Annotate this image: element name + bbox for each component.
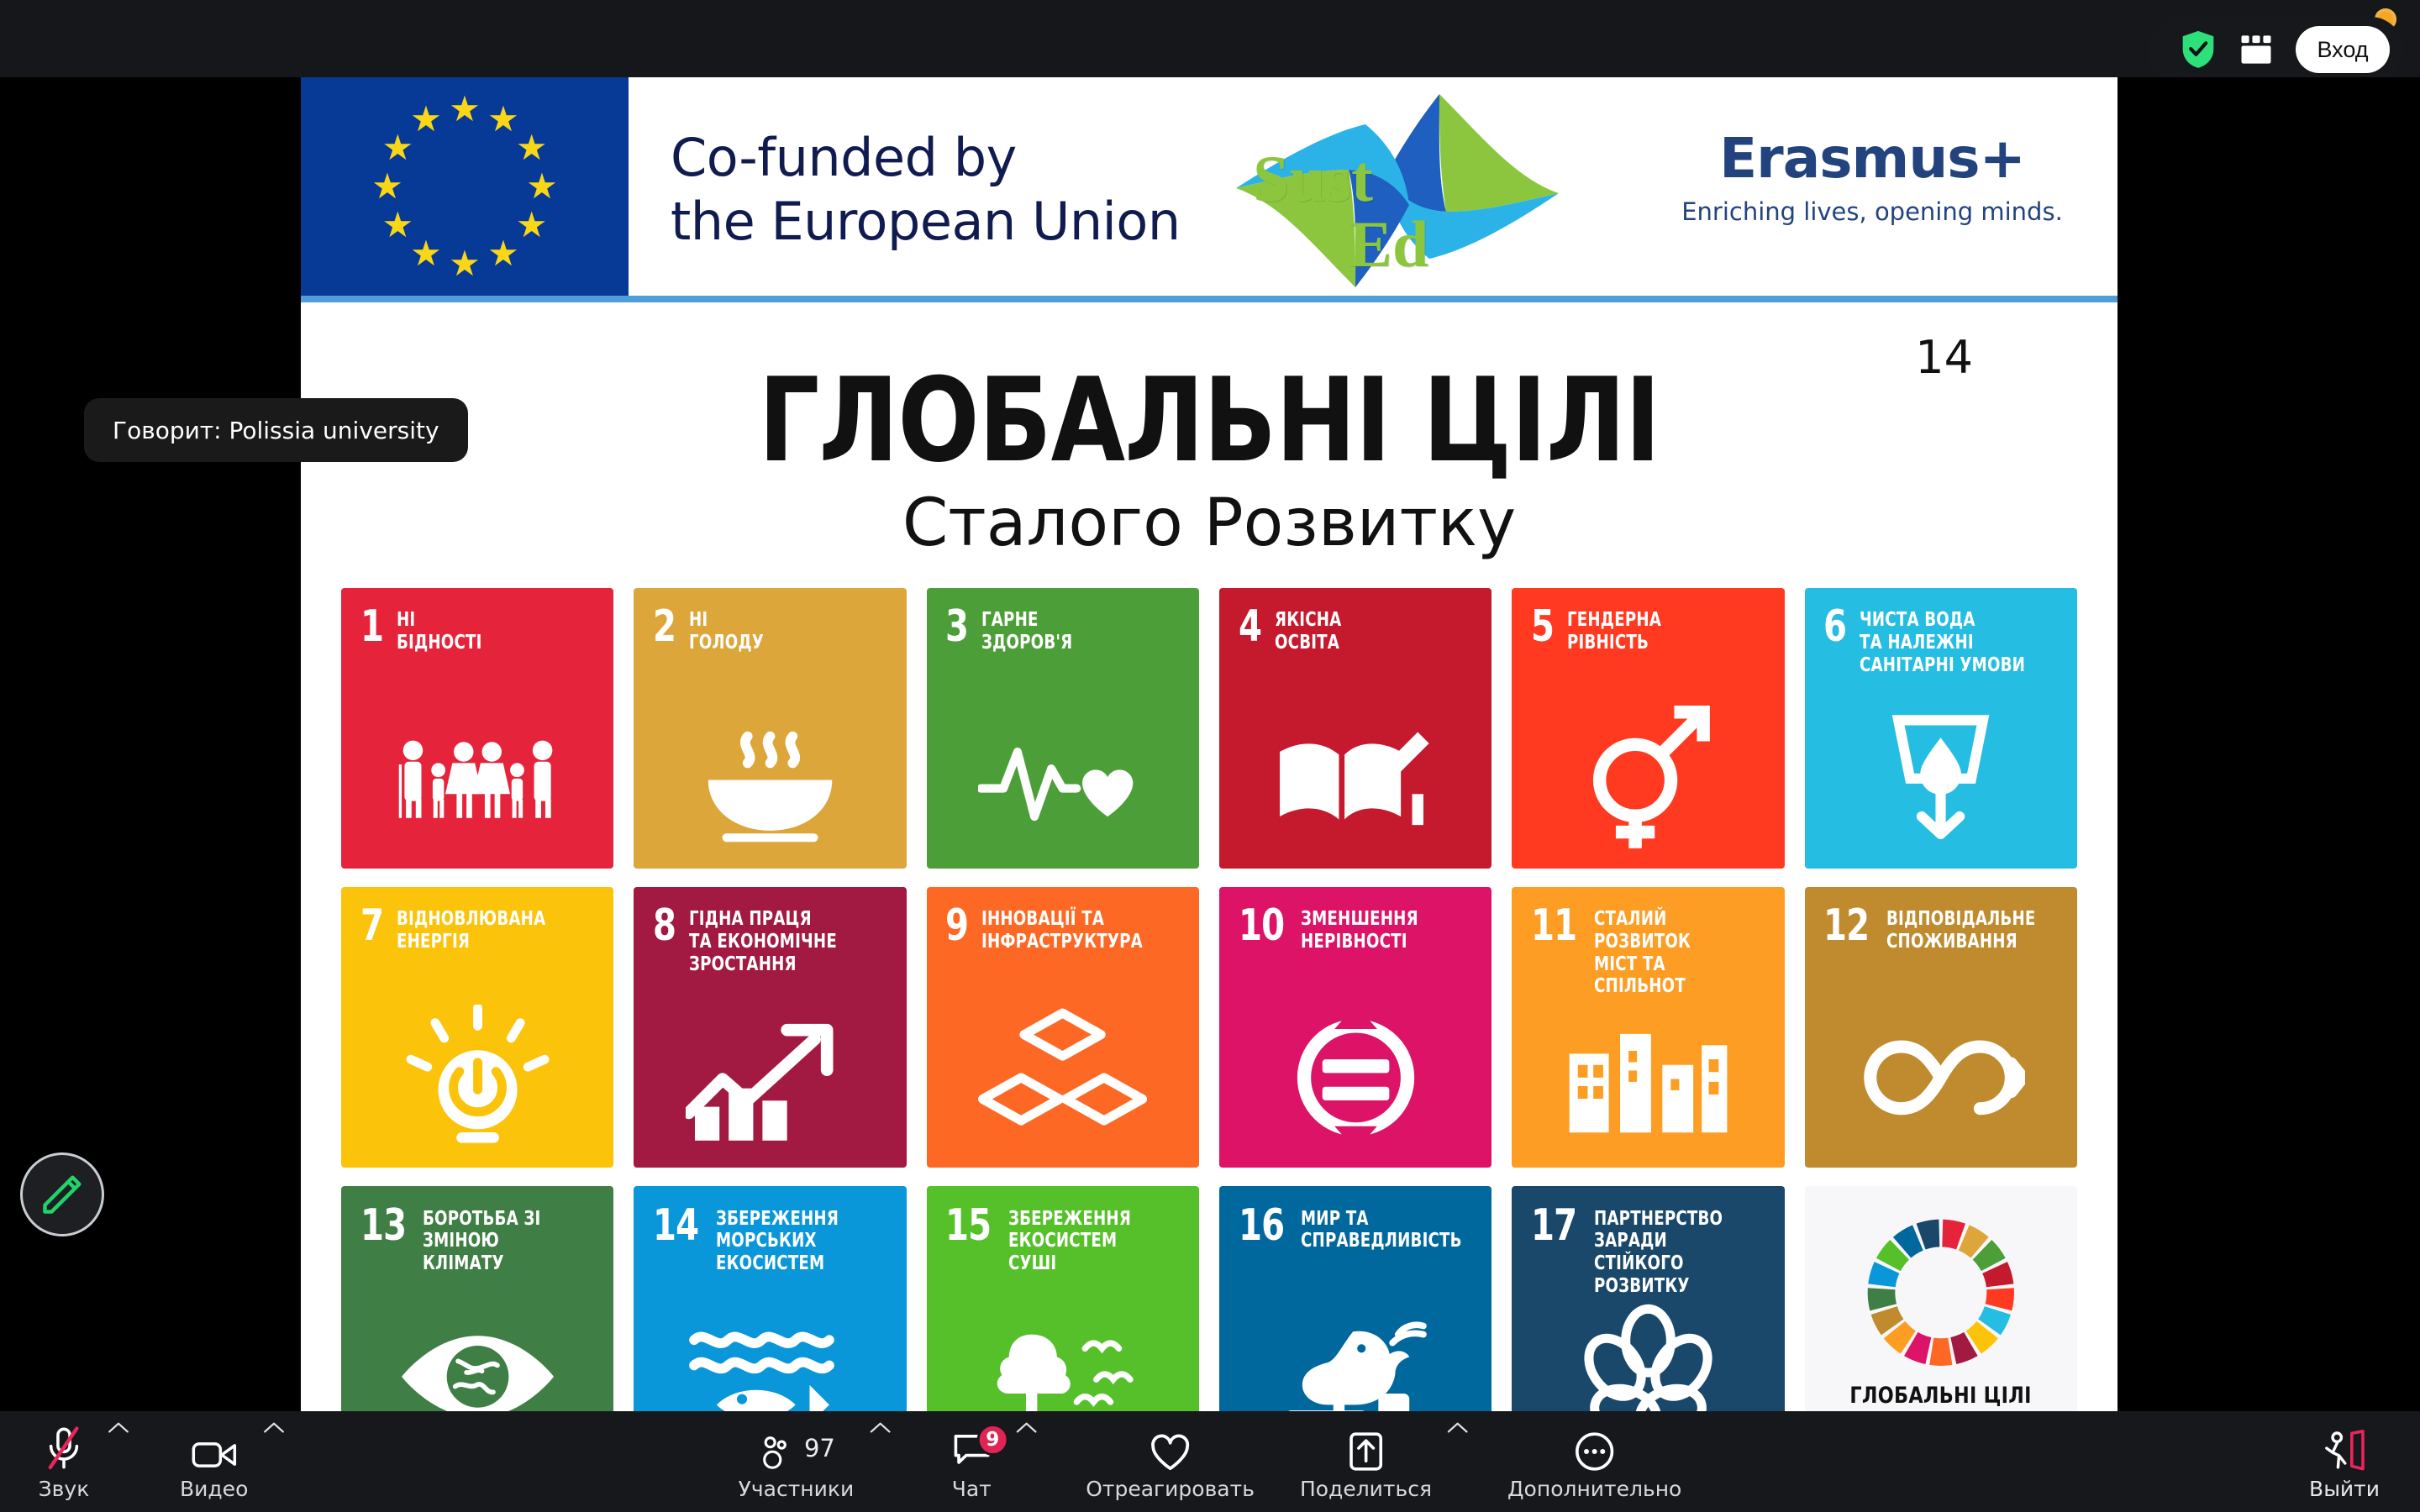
sdg-tile-header: 5ГЕНДЕРНА РІВНІСТЬ [1531, 607, 1770, 654]
infinity-icon [1805, 1005, 2077, 1151]
sdg-tile-8: 8ГІДНА ПРАЦЯ ТА ЕКОНОМІЧНЕ ЗРОСТАННЯ [634, 887, 906, 1168]
family-icon [341, 706, 613, 852]
sdg-tile-number: 5 [1531, 607, 1554, 648]
participants-label: Участники [739, 1477, 855, 1501]
sdg-tile-header: 15ЗБЕРЕЖЕННЯ ЕКОСИСТЕМ СУШІ [945, 1206, 1185, 1275]
toolbar-center-group: 97 Участники 9 [727, 1411, 1694, 1512]
shield-check-icon[interactable] [2180, 29, 2217, 70]
sdg-tile-label: ПАРТНЕРСТВО ЗАРАДИ СТІЙКОГО РОЗВИТКУ [1594, 1208, 1750, 1298]
sdg-tile-header: 9ІННОВАЦІЇ ТА ІНФРАСТРУКТУРА [945, 906, 1185, 953]
sdg-tile-14: 14ЗБЕРЕЖЕННЯ МОРСЬКИХ ЕКОСИСТЕМ [634, 1186, 906, 1411]
sdg-tile-6: 6ЧИСТА ВОДА ТА НАЛЕЖНІ САНІТАРНІ УМОВИ [1805, 588, 2077, 869]
sdg-tile-label: ЯКІСНА ОСВІТА [1275, 609, 1341, 654]
chat-bubble-icon: 9 [951, 1425, 992, 1472]
equal-arrows-icon [1219, 1005, 1491, 1151]
top-bar: Вход [0, 0, 2420, 77]
sdg-tile-label: ЗМЕНШЕННЯ НЕРІВНОСТІ [1301, 908, 1418, 953]
dove-gavel-icon [1219, 1304, 1491, 1411]
login-button[interactable]: Вход [2296, 26, 2390, 73]
sdg-tile-label: МИР ТА СПРАВЕДЛИВІСТЬ [1301, 1208, 1462, 1252]
sdg-tile-number: 6 [1823, 607, 1846, 648]
slide-banner: ★★★★★★★★★★★★ Co-funded by the European U… [301, 77, 2117, 302]
eu-star-icon: ★ [381, 207, 413, 243]
sdg-tile-number: 7 [360, 906, 383, 947]
susted-word-sust: Sust [1253, 146, 1373, 212]
sdg-tile-header: 14ЗБЕРЕЖЕННЯ МОРСЬКИХ ЕКОСИСТЕМ [653, 1206, 892, 1275]
eu-star-icon: ★ [449, 246, 481, 281]
sdg-tile-label: ВІДПОВІДАЛЬНЕ СПОЖИВАННЯ [1886, 908, 2036, 953]
chat-unread-badge: 9 [976, 1424, 1008, 1456]
slide-title: ГЛОБАЛЬНІ ЦІЛІ [373, 353, 2044, 488]
participants-count: 97 [804, 1434, 835, 1462]
sdg-tile-number: 13 [360, 1206, 406, 1247]
eu-star-icon: ★ [449, 92, 481, 127]
susted-logo: Sust Ed [1229, 86, 1565, 296]
sdg-tile-label: ГІДНА ПРАЦЯ ТА ЕКОНОМІЧНЕ ЗРОСТАННЯ [689, 908, 837, 975]
eu-star-icon: ★ [410, 236, 442, 271]
sdg-tile-number: 16 [1239, 1206, 1284, 1247]
sdg-tile-header: 11СТАЛИЙ РОЗВИТОК МІСТ ТА СПІЛЬНОТ [1531, 906, 1770, 998]
sdg-color-wheel-icon [1865, 1216, 2018, 1373]
eu-star-icon: ★ [410, 102, 442, 137]
eu-star-icon: ★ [487, 102, 519, 137]
eu-star-icon: ★ [516, 207, 548, 243]
eu-funding-text: Co-funded by the European Union [671, 126, 1259, 253]
active-speaker-label: Говорит: Polissia university [84, 398, 468, 462]
slide-subtitle: Сталого Розвитку [301, 486, 2117, 561]
sdg-tile-4: 4ЯКІСНА ОСВІТА [1219, 588, 1491, 869]
sdg-tile-header: 3ГАРНЕ ЗДОРОВ'Я [945, 607, 1185, 654]
sdg-goal-grid: 1НІ БІДНОСТІ2НІ ГОЛОДУ3ГАРНЕ ЗДОРОВ'Я4ЯК… [341, 588, 2077, 1411]
sdg-tile-number: 12 [1823, 906, 1869, 947]
eu-star-icon: ★ [381, 130, 413, 165]
sdg-tile-7: 7ВІДНОВЛЮВАНА ЕНЕРГІЯ [341, 887, 613, 1168]
sdg-tile-number: 9 [945, 906, 968, 947]
exit-door-icon [2323, 1425, 2366, 1472]
sdg-tile-number: 17 [1531, 1206, 1576, 1247]
audio-button[interactable]: Звук [24, 1420, 104, 1504]
sdg-tile-number: 14 [653, 1206, 698, 1247]
eu-funding-line1: Co-funded by [671, 126, 1259, 190]
sdg-tile-label: БОРОТЬБА ЗІ ЗМІНОЮ КЛІМАТУ [423, 1208, 579, 1275]
sdg-tile-3: 3ГАРНЕ ЗДОРОВ'Я [927, 588, 1199, 869]
sdg-tile-9: 9ІННОВАЦІЇ ТА ІНФРАСТРУКТУРА [927, 887, 1199, 1168]
more-label: Дополнительно [1507, 1477, 1681, 1501]
presentation-stage: ★★★★★★★★★★★★ Co-funded by the European U… [0, 77, 2420, 1411]
share-up-arrow-icon [1347, 1425, 1384, 1472]
camera-icon [192, 1425, 237, 1472]
book-pencil-icon [1219, 706, 1491, 852]
chat-label: Чат [952, 1477, 992, 1501]
sdg-wheel-title: ГЛОБАЛЬНІ ЦІЛІ [1850, 1383, 2032, 1409]
sdg-tile-label: ЗБЕРЕЖЕННЯ ЕКОСИСТЕМ СУШІ [1008, 1208, 1131, 1275]
sdg-tile-label: СТАЛИЙ РОЗВИТОК МІСТ ТА СПІЛЬНОТ [1594, 908, 1750, 998]
eu-star-icon: ★ [526, 169, 558, 204]
sdg-tile-label: НІ ГОЛОДУ [689, 609, 764, 654]
react-label: Отреагировать [1086, 1477, 1255, 1501]
bowl-icon [634, 706, 906, 852]
sun-power-icon [341, 1005, 613, 1151]
sdg-tile-17: 17ПАРТНЕРСТВО ЗАРАДИ СТІЙКОГО РОЗВИТКУ [1512, 1186, 1784, 1411]
sdg-tile-2: 2НІ ГОЛОДУ [634, 588, 906, 869]
sdg-tile-header: 8ГІДНА ПРАЦЯ ТА ЕКОНОМІЧНЕ ЗРОСТАННЯ [653, 906, 892, 975]
eu-flag-icon: ★★★★★★★★★★★★ [301, 77, 629, 296]
sdg-tile-number: 4 [1239, 607, 1261, 648]
microphone-muted-icon [43, 1425, 85, 1472]
eu-funding-line2: the European Union [671, 190, 1259, 254]
sdg-tile-label: ГЕНДЕРНА РІВНІСТЬ [1567, 609, 1661, 654]
toolbar-right-group: Выйти [2297, 1411, 2391, 1512]
sdg-tile-number: 10 [1239, 906, 1284, 947]
sdg-tile-header: 4ЯКІСНА ОСВІТА [1239, 607, 1478, 654]
heart-icon [1149, 1425, 1192, 1472]
heartbeat-icon [927, 706, 1199, 852]
sdg-tile-11: 11СТАЛИЙ РОЗВИТОК МІСТ ТА СПІЛЬНОТ [1512, 887, 1784, 1168]
top-right-controls: Вход [2148, 17, 2403, 82]
banner-divider [301, 296, 2117, 302]
erasmus-wordmark: Erasmus+ [1645, 129, 2099, 187]
sdg-tile-number: 15 [945, 1206, 991, 1247]
leave-label: Выйти [2309, 1477, 2380, 1501]
climate-eye-icon [341, 1304, 613, 1411]
cubes-icon [927, 1005, 1199, 1151]
people-icon: 97 [757, 1425, 835, 1472]
erasmus-tagline: Enriching lives, opening minds. [1645, 197, 2099, 226]
erasmus-logo: Erasmus+ Enriching lives, opening minds. [1645, 129, 2099, 226]
growth-chart-icon [634, 1005, 906, 1151]
eu-star-icon: ★ [371, 169, 403, 204]
shared-slide[interactable]: ★★★★★★★★★★★★ Co-funded by the European U… [301, 77, 2117, 1411]
sdg-tile-header: 2НІ ГОЛОДУ [653, 607, 892, 654]
chat-button[interactable]: 9 Чат [931, 1420, 1012, 1504]
sdg-tile-header: 16МИР ТА СПРАВЕДЛИВІСТЬ [1239, 1206, 1478, 1252]
sdg-tile-number: 3 [945, 607, 968, 648]
apps-grid-icon[interactable] [2238, 32, 2274, 67]
sdg-tile-header: 12ВІДПОВІДАЛЬНЕ СПОЖИВАННЯ [1823, 906, 2063, 953]
sdg-tile-label: ВІДНОВЛЮВАНА ЕНЕРГІЯ [397, 908, 545, 953]
share-label: Поделиться [1300, 1477, 1432, 1501]
sdg-tile-15: 15ЗБЕРЕЖЕННЯ ЕКОСИСТЕМ СУШІ [927, 1186, 1199, 1411]
city-icon [1512, 1005, 1784, 1151]
eu-star-icon: ★ [516, 130, 548, 165]
slide-body: 14 ГЛОБАЛЬНІ ЦІЛІ Сталого Розвитку 1НІ Б… [301, 302, 2117, 1411]
sdg-tile-header: 1НІ БІДНОСТІ [360, 607, 600, 654]
sdg-tile-label: ГАРНЕ ЗДОРОВ'Я [981, 609, 1072, 654]
meeting-toolbar: Звук Видео [0, 1411, 2420, 1512]
sdg-tile-label: НІ БІДНОСТІ [397, 609, 482, 654]
sdg-tile-label: ІННОВАЦІЇ ТА ІНФРАСТРУКТУРА [981, 908, 1143, 953]
sdg-tile-label: ЧИСТА ВОДА ТА НАЛЕЖНІ САНІТАРНІ УМОВИ [1860, 609, 2025, 676]
participants-chevron-up-icon[interactable] [865, 1420, 894, 1457]
sdg-tile-header: 7ВІДНОВЛЮВАНА ЕНЕРГІЯ [360, 906, 600, 953]
sdg-tile-12: 12ВІДПОВІДАЛЬНЕ СПОЖИВАННЯ [1805, 887, 2077, 1168]
meeting-app: Вход ★★★★★★★★★★★★ Co-funded by the Europ… [0, 0, 2420, 1512]
sdg-tile-label: ЗБЕРЕЖЕННЯ МОРСЬКИХ ЕКОСИСТЕМ [716, 1208, 839, 1275]
sdg-tile-header: 6ЧИСТА ВОДА ТА НАЛЕЖНІ САНІТАРНІ УМОВИ [1823, 607, 2063, 676]
sdg-tile-header: 13БОРОТЬБА ЗІ ЗМІНОЮ КЛІМАТУ [360, 1206, 600, 1275]
sdg-tile-header: 10ЗМЕНШЕННЯ НЕРІВНОСТІ [1239, 906, 1478, 953]
susted-word-ed: Ed [1349, 212, 1428, 277]
sdg-tile-5: 5ГЕНДЕРНА РІВНІСТЬ [1512, 588, 1784, 869]
water-drop-icon [1805, 706, 2077, 852]
react-button[interactable]: Отреагировать [1074, 1420, 1266, 1504]
eu-star-icon: ★ [487, 236, 519, 271]
ellipsis-icon [1574, 1425, 1616, 1472]
video-label: Видео [180, 1477, 248, 1501]
toolbar-left-group: Звук Видео [24, 1411, 288, 1512]
sdg-tile-13: 13БОРОТЬБА ЗІ ЗМІНОЮ КЛІМАТУ [341, 1186, 613, 1411]
audio-label: Звук [39, 1477, 90, 1501]
sdg-tile-16: 16МИР ТА СПРАВЕДЛИВІСТЬ [1219, 1186, 1491, 1411]
sdg-tile-1: 1НІ БІДНОСТІ [341, 588, 613, 869]
fish-waves-icon [634, 1304, 906, 1411]
share-chevron-up-icon[interactable] [1444, 1420, 1472, 1457]
video-options-chevron-up-icon[interactable] [260, 1420, 288, 1457]
sdg-tile-number: 11 [1531, 906, 1576, 947]
partnership-rings-icon [1512, 1304, 1784, 1411]
chat-chevron-up-icon[interactable] [1012, 1420, 1040, 1457]
sdg-tile-number: 2 [653, 607, 676, 648]
gender-equality-icon [1512, 706, 1784, 852]
sdg-tile-number: 1 [360, 607, 383, 648]
leave-button[interactable]: Выйти [2297, 1420, 2391, 1504]
sdg-tile-10: 10ЗМЕНШЕННЯ НЕРІВНОСТІ [1219, 887, 1491, 1168]
sdg-tile-number: 8 [653, 906, 676, 947]
more-button[interactable]: Дополнительно [1496, 1420, 1693, 1504]
video-button[interactable]: Видео [168, 1420, 260, 1504]
tree-birds-icon [927, 1304, 1199, 1411]
sdg-wheel-tile: ГЛОБАЛЬНІ ЦІЛІСталого Розвитку [1805, 1186, 2077, 1411]
audio-options-chevron-up-icon[interactable] [104, 1420, 133, 1457]
pencil-icon [39, 1171, 86, 1218]
annotate-button[interactable] [20, 1152, 104, 1236]
share-button[interactable]: Поделиться [1288, 1420, 1444, 1504]
sdg-tile-header: 17ПАРТНЕРСТВО ЗАРАДИ СТІЙКОГО РОЗВИТКУ [1531, 1206, 1770, 1298]
participants-button[interactable]: 97 Участники [727, 1420, 866, 1504]
